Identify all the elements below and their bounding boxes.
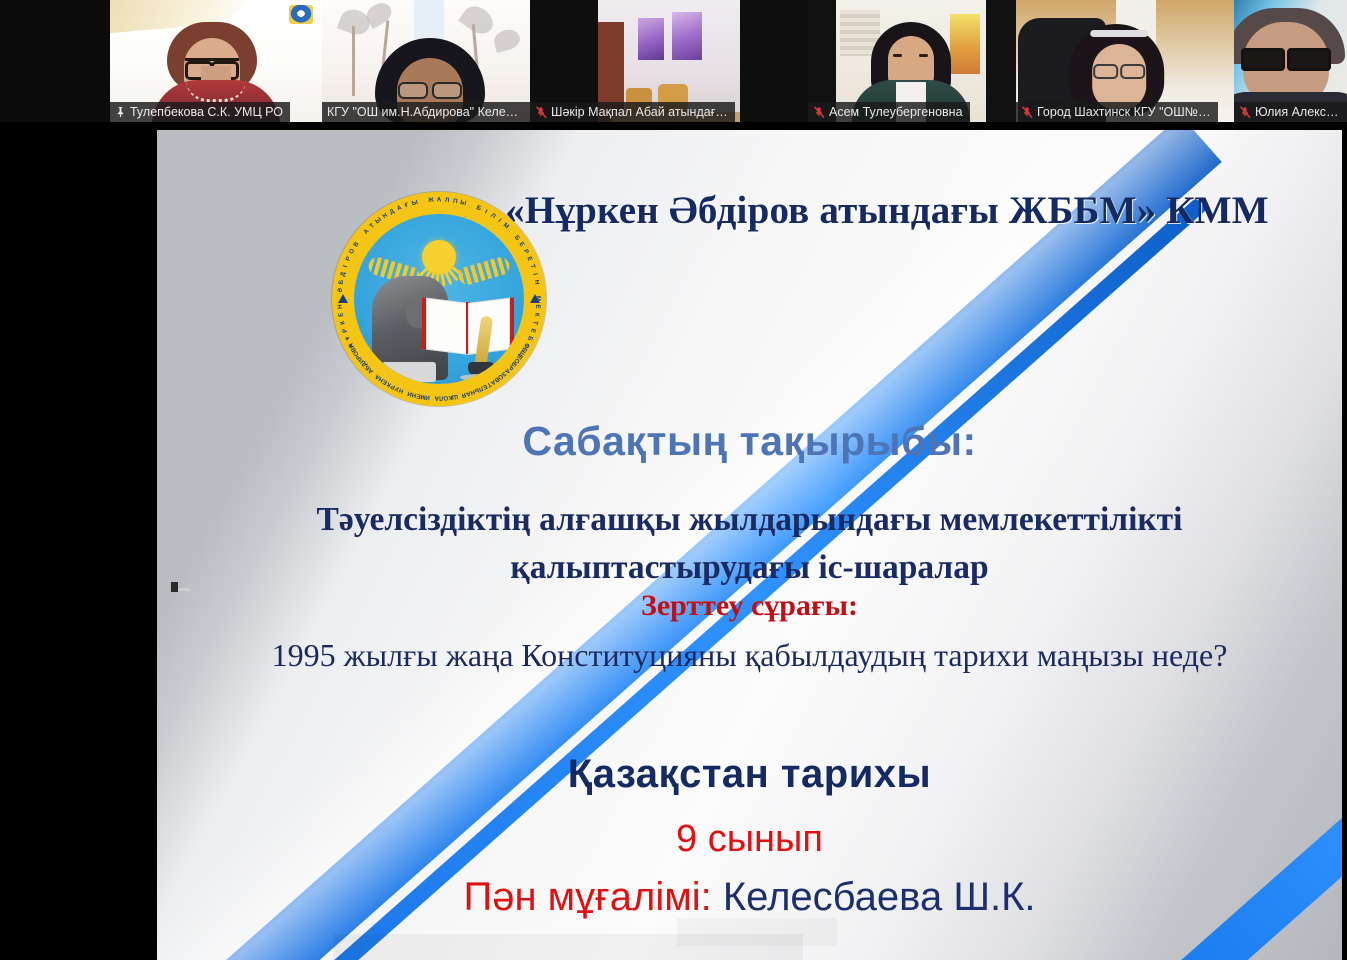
shared-screen-slide: НҰРКЕН ӘБДІРОВ АТЫНДАҒЫ ЖАЛПЫ БІЛІМ БЕРЕ… — [157, 130, 1342, 960]
teacher-line: Пән мұғалімі: Келесбаева Ш.К. — [157, 875, 1342, 920]
zoom-meeting-screen: Тулепбекова С.К. УМЦ РО КГУ "ОШ им.Н.Абд… — [0, 0, 1347, 960]
participant-name-bar-2: КГУ "ОШ им.Н.Абдирова" Келес… — [322, 102, 530, 122]
participant-name-bar-6: Юлия Александровна Гол — [1234, 102, 1347, 122]
inkwell-icon — [468, 362, 494, 376]
participant-tile-1[interactable]: Тулепбекова С.К. УМЦ РО — [110, 0, 322, 122]
participant-name-label: КГУ "ОШ им.Н.Абдирова" Келес… — [327, 105, 523, 119]
organization-logo-icon — [289, 5, 313, 24]
open-book-icon — [422, 300, 514, 358]
participant-tile-3[interactable]: Шәкір Мақпал Абай атындағ… — [530, 0, 808, 122]
organization-title: «Нұркен Әбдіров атындағы ЖББМ» КММ — [457, 188, 1317, 233]
mic-muted-icon — [535, 106, 547, 119]
emblem-inner-disc — [354, 214, 524, 384]
teacher-name: Келесбаева Ш.К. — [723, 875, 1036, 919]
participant-name-label: Юлия Александровна Гол — [1255, 105, 1340, 119]
teacher-label: Пән мұғалімі: — [463, 875, 711, 919]
emblem-star-left-icon — [338, 294, 348, 303]
eagle-wing-right-icon — [457, 255, 512, 287]
participant-tile-4[interactable]: Асем Тулеубергеновна — [808, 0, 1016, 122]
lesson-topic-label: Сабақтың тақырыбы: — [157, 418, 1342, 465]
mic-muted-icon — [1239, 106, 1251, 119]
subject-name: Қазақстан тарихы — [157, 752, 1342, 797]
participant-name-label: Асем Тулеубергеновна — [829, 105, 963, 119]
emblem-star-right-icon — [530, 294, 540, 303]
lesson-topic-text: Тәуелсіздіктің алғашқы жылдарындағы мемл… — [197, 496, 1302, 591]
participant-name-bar-5: Город Шахтинск КГУ "ОШ№… — [1016, 102, 1218, 122]
participant-filmstrip: Тулепбекова С.К. УМЦ РО КГУ "ОШ им.Н.Абд… — [0, 0, 1347, 122]
mouse-cursor — [171, 582, 178, 592]
participant-tile-2[interactable]: КГУ "ОШ им.Н.Абдирова" Келес… — [322, 0, 530, 122]
filmstrip-left-pad — [0, 0, 110, 122]
mic-muted-icon — [1021, 106, 1033, 119]
participant-tile-5[interactable]: Город Шахтинск КГУ "ОШ№… — [1016, 0, 1234, 122]
participant-name-bar-4: Асем Тулеубергеновна — [808, 102, 970, 122]
participant-name-bar-1: Тулепбекова С.К. УМЦ РО — [110, 102, 290, 122]
mic-muted-icon — [813, 106, 825, 119]
participant-name-label: Шәкір Мақпал Абай атындағ… — [551, 105, 728, 119]
participant-name-label: Город Шахтинск КГУ "ОШ№… — [1037, 105, 1211, 119]
grade-level: 9 сынып — [157, 818, 1342, 861]
participant-tile-6[interactable]: Юлия Александровна Гол — [1234, 0, 1347, 122]
participant-name-bar-3: Шәкір Мақпал Абай атындағ… — [530, 102, 735, 122]
research-question-text: 1995 жылғы жаңа Конституцияны қабылдауды… — [187, 632, 1312, 678]
research-question-label: Зерттеу сұрағы: — [157, 589, 1342, 623]
slide-bottom-shade-2 — [677, 918, 837, 946]
participant-name-label: Тулепбекова С.К. УМЦ РО — [130, 105, 283, 119]
pin-icon — [115, 106, 126, 118]
